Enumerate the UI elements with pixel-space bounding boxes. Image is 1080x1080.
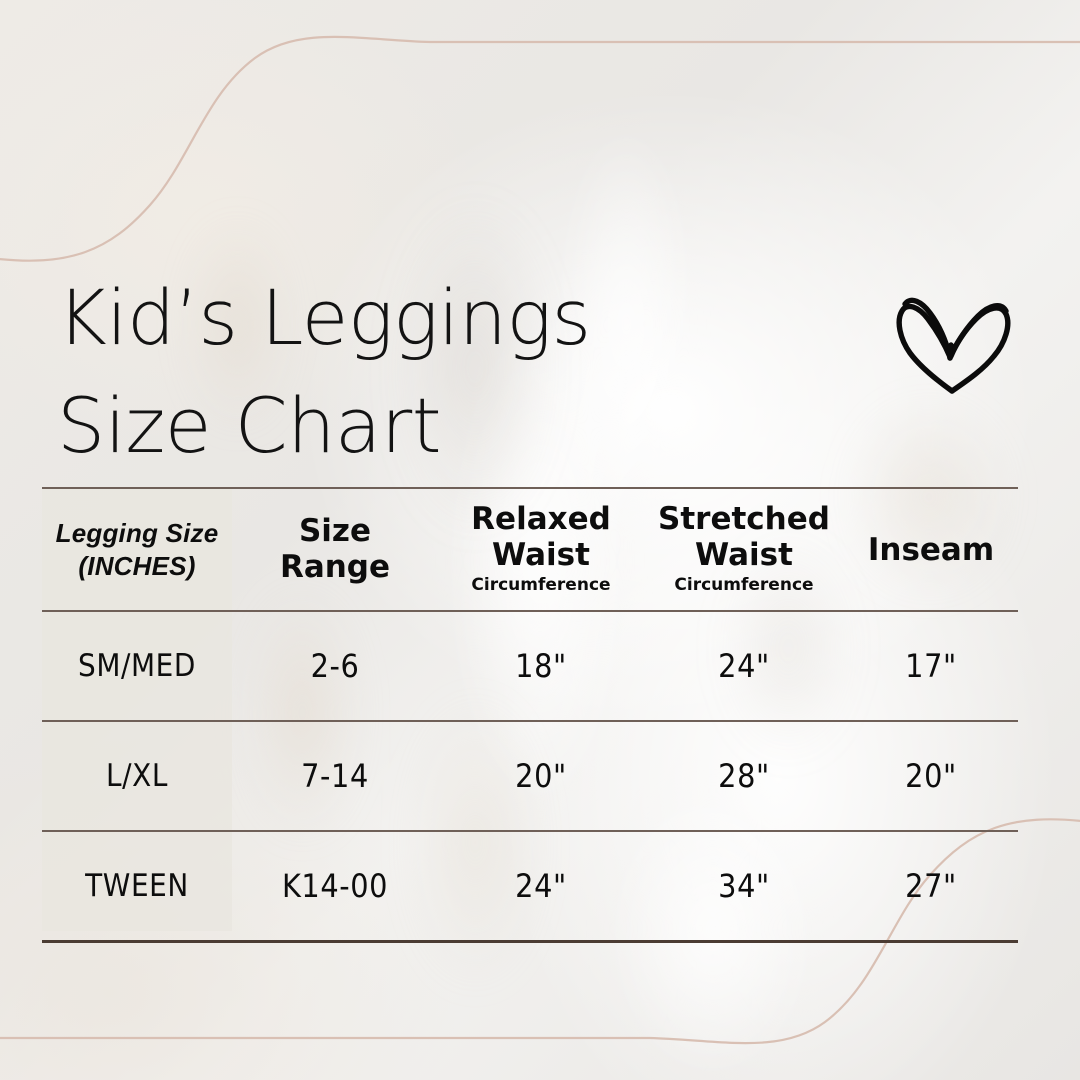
column-header-relaxed-waist-line1: Relaxed [471, 501, 611, 537]
cell-inseam: 20" [844, 721, 1018, 831]
table-row: L/XL 7-14 20" 28" 20" [42, 721, 1018, 831]
column-header-stretched-waist-line1: Stretched [658, 501, 830, 537]
column-header-inseam: Inseam [844, 488, 1018, 611]
column-header-legging-size-line1: Legging Size [56, 518, 219, 548]
page-title: Kid’s Leggings Size Chart [57, 264, 737, 480]
column-header-relaxed-waist-sub: Circumference [438, 575, 644, 596]
cell-size: TWEEN [42, 831, 232, 941]
table-row: SM/MED 2-6 18" 24" 17" [42, 611, 1018, 721]
table-body: SM/MED 2-6 18" 24" 17" L/XL 7-14 20" 28"… [42, 611, 1018, 941]
column-header-relaxed-waist: Relaxed Waist Circumference [438, 488, 644, 611]
column-header-legging-size-line2: (INCHES) [78, 551, 195, 581]
size-chart-table-wrap: Legging Size (INCHES) Size Range Relaxed… [42, 487, 1018, 943]
column-header-legging-size: Legging Size (INCHES) [42, 488, 232, 611]
cell-size: L/XL [42, 721, 232, 831]
cell-relaxed-waist: 24" [438, 831, 644, 941]
column-header-stretched-waist-line2: Waist [695, 537, 793, 573]
size-chart-table: Legging Size (INCHES) Size Range Relaxed… [42, 487, 1018, 943]
column-header-relaxed-waist-line2: Waist [492, 537, 590, 573]
cell-stretched-waist: 24" [644, 611, 844, 721]
cell-size: SM/MED [42, 611, 232, 721]
cell-stretched-waist: 34" [644, 831, 844, 941]
heart-doodle-icon [893, 283, 1015, 395]
column-header-size-range: Size Range [232, 488, 438, 611]
top-left-curve-line [0, 37, 1080, 261]
column-header-stretched-waist-sub: Circumference [644, 575, 844, 596]
cell-relaxed-waist: 20" [438, 721, 644, 831]
cell-inseam: 27" [844, 831, 1018, 941]
cell-size-range: 2-6 [232, 611, 438, 721]
cell-stretched-waist: 28" [644, 721, 844, 831]
column-header-size-range-line1: Size [299, 513, 371, 549]
cell-relaxed-waist: 18" [438, 611, 644, 721]
cell-inseam: 17" [844, 611, 1018, 721]
cell-size-range: 7-14 [232, 721, 438, 831]
column-header-size-range-line2: Range [280, 549, 390, 585]
cell-size-range: K14-00 [232, 831, 438, 941]
column-header-stretched-waist: Stretched Waist Circumference [644, 488, 844, 611]
table-header-row: Legging Size (INCHES) Size Range Relaxed… [42, 488, 1018, 611]
size-chart-page: Kid’s Leggings Size Chart Legging Size [0, 0, 1080, 1080]
table-row: TWEEN K14-00 24" 34" 27" [42, 831, 1018, 941]
